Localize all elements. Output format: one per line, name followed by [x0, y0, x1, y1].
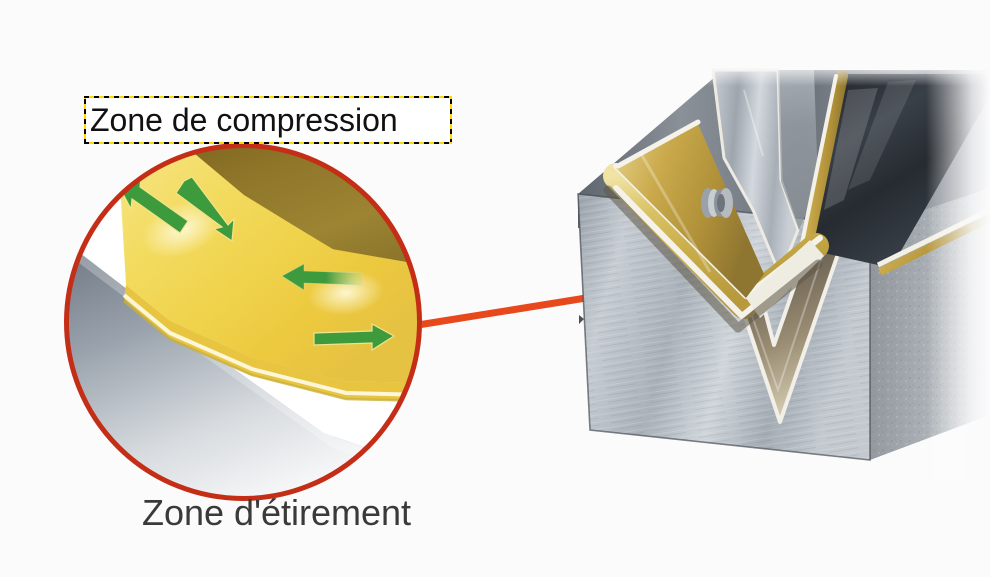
illustration-canvas: Zone de compression Zone d'étirement — [0, 0, 990, 577]
stretch-zone-label: Zone d'étirement — [142, 492, 411, 534]
compression-zone-text: Zone de compression — [90, 104, 398, 136]
backgauge-pin — [701, 188, 733, 218]
compression-zone-label: Zone de compression — [84, 96, 452, 144]
zoom-callout-circle — [64, 143, 422, 501]
v-die-bending-illustration — [548, 60, 990, 480]
